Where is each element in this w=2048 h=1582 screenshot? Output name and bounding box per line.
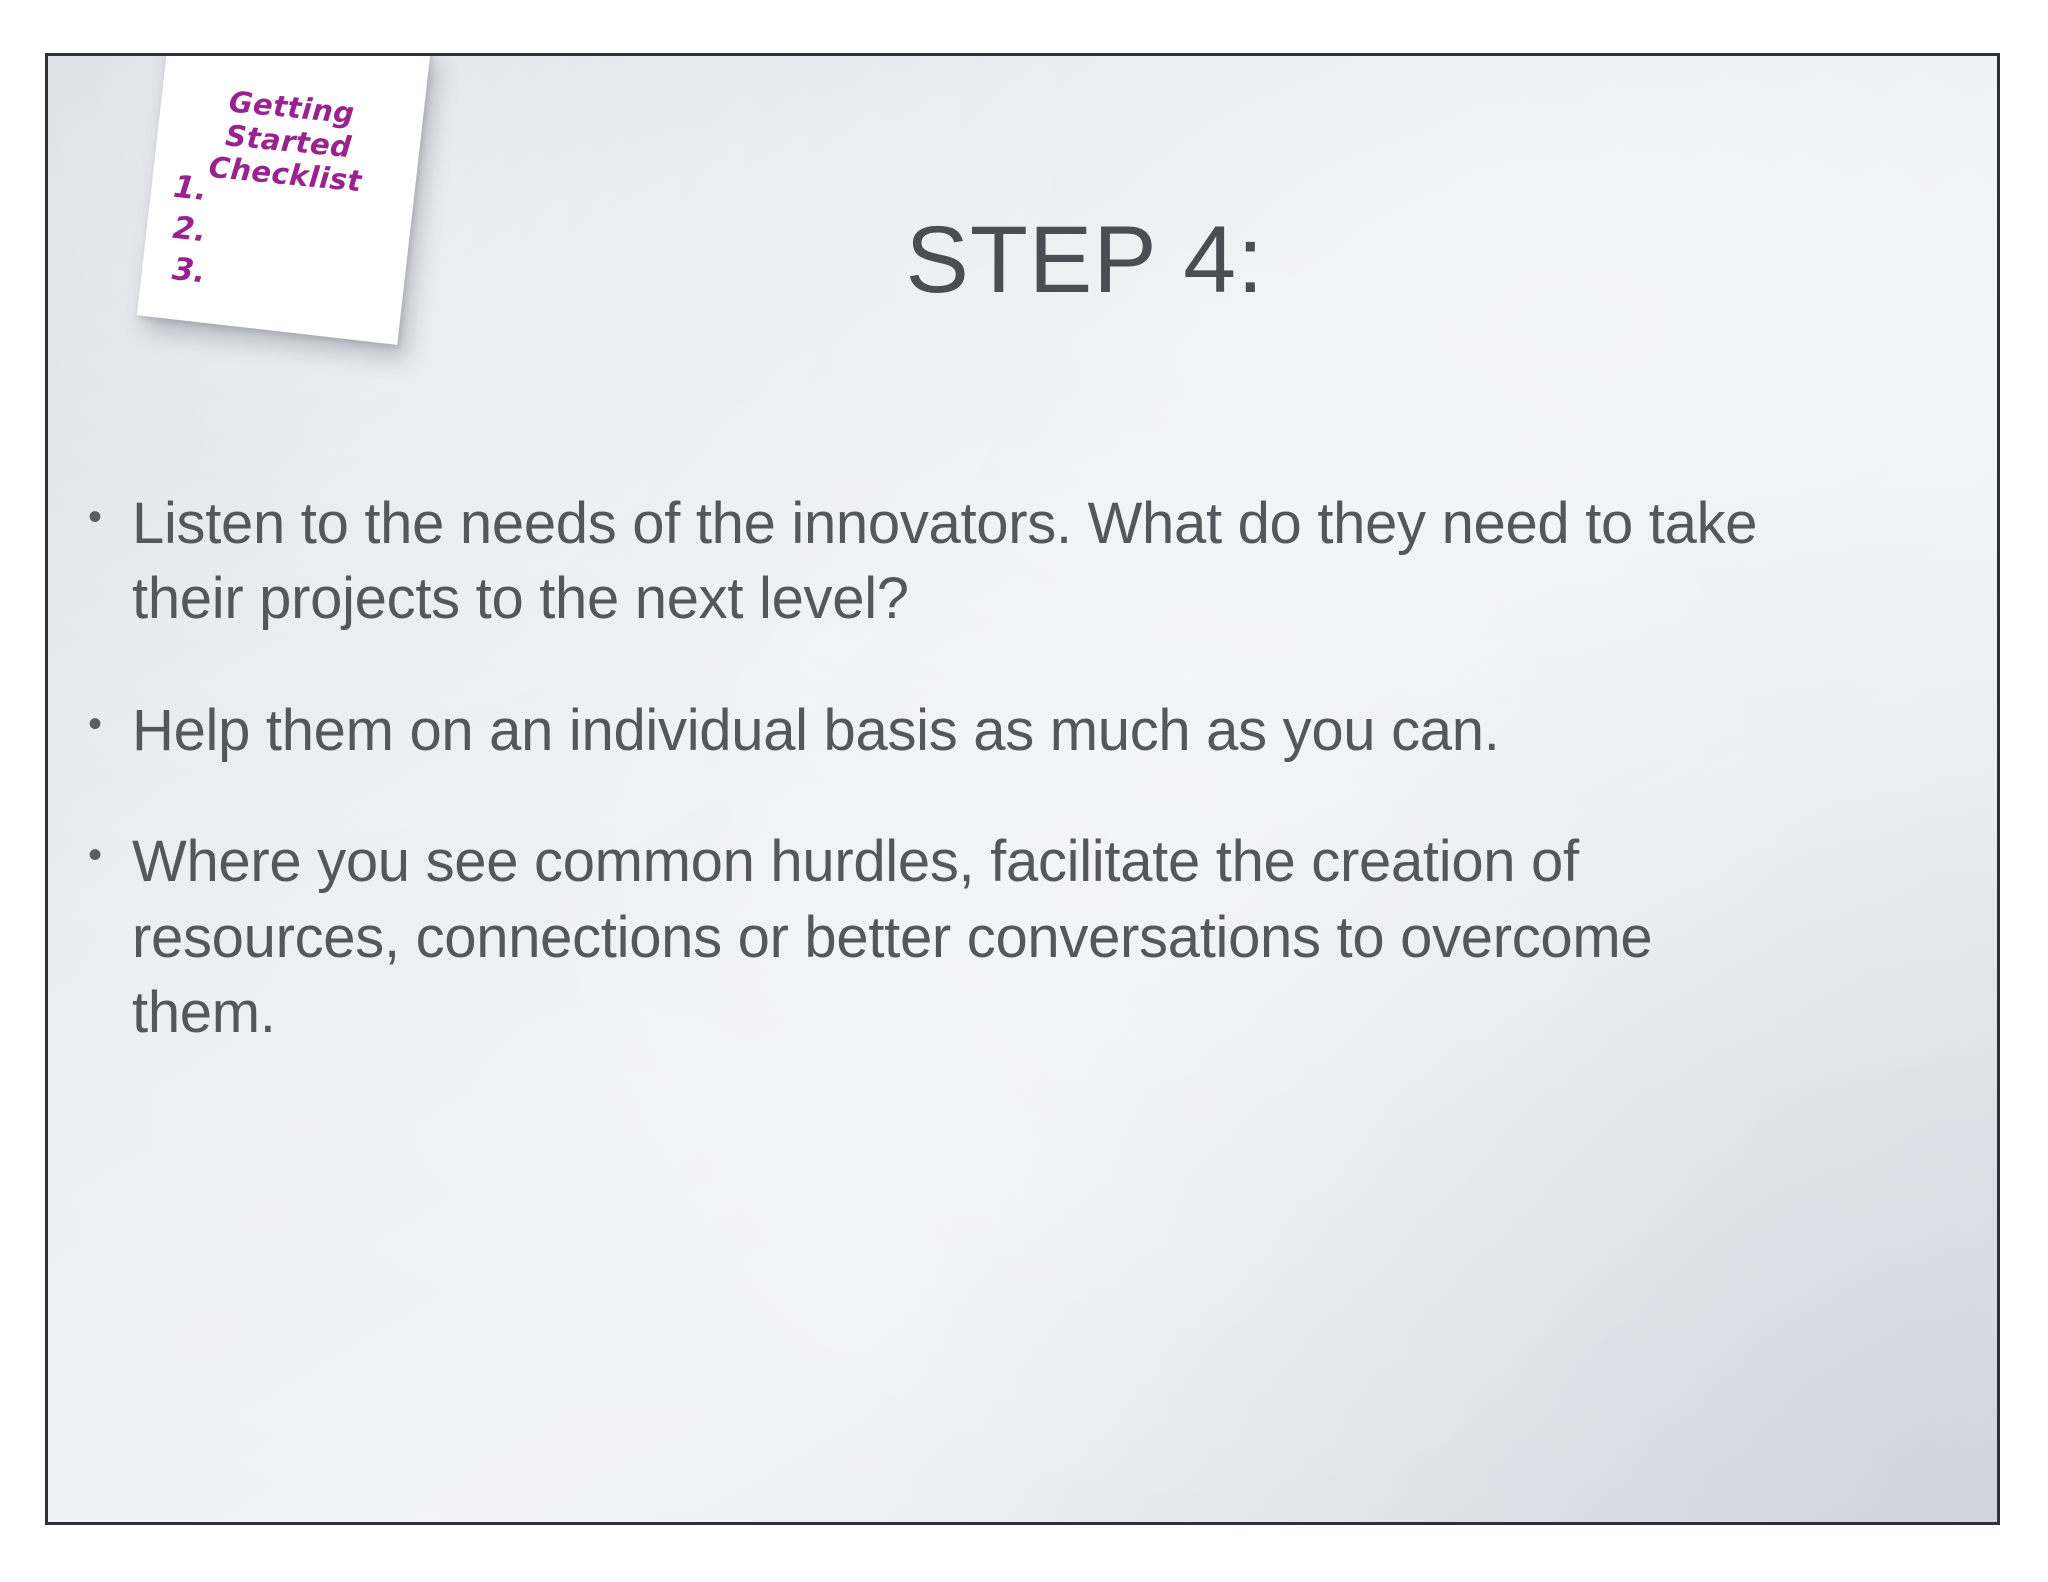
bullet-marker-icon: • [88, 486, 132, 548]
note-numbered-list: 1. 2. 3. [162, 167, 217, 294]
bullet-text: Where you see common hurdles, facilitate… [132, 824, 1772, 1050]
bullet-marker-icon: • [88, 824, 132, 886]
list-item: • Help them on an individual basis as mu… [88, 693, 1938, 768]
bullet-text: Help them on an individual basis as much… [132, 693, 1772, 768]
list-item: • Where you see common hurdles, facilita… [88, 824, 1938, 1050]
note-list-item-3: 3. [170, 249, 208, 293]
list-item: • Listen to the needs of the innovators.… [88, 486, 1938, 637]
slide-container: Getting Started Checklist 1. 2. 3. STEP … [45, 53, 2000, 1525]
note-paper: Getting Started Checklist 1. 2. 3. [137, 53, 431, 345]
note-title-line1: Getting Started [224, 84, 356, 163]
note-list-item-1: 1. [171, 167, 217, 212]
bullet-text: Listen to the needs of the innovators. W… [132, 486, 1772, 637]
getting-started-checklist-note: Getting Started Checklist 1. 2. 3. [137, 53, 431, 345]
note-list-item-2: 2. [171, 208, 213, 253]
bullet-marker-icon: • [88, 693, 132, 755]
bullet-list: • Listen to the needs of the innovators.… [88, 486, 1938, 1050]
slide-canvas: Getting Started Checklist 1. 2. 3. STEP … [45, 53, 2000, 1525]
